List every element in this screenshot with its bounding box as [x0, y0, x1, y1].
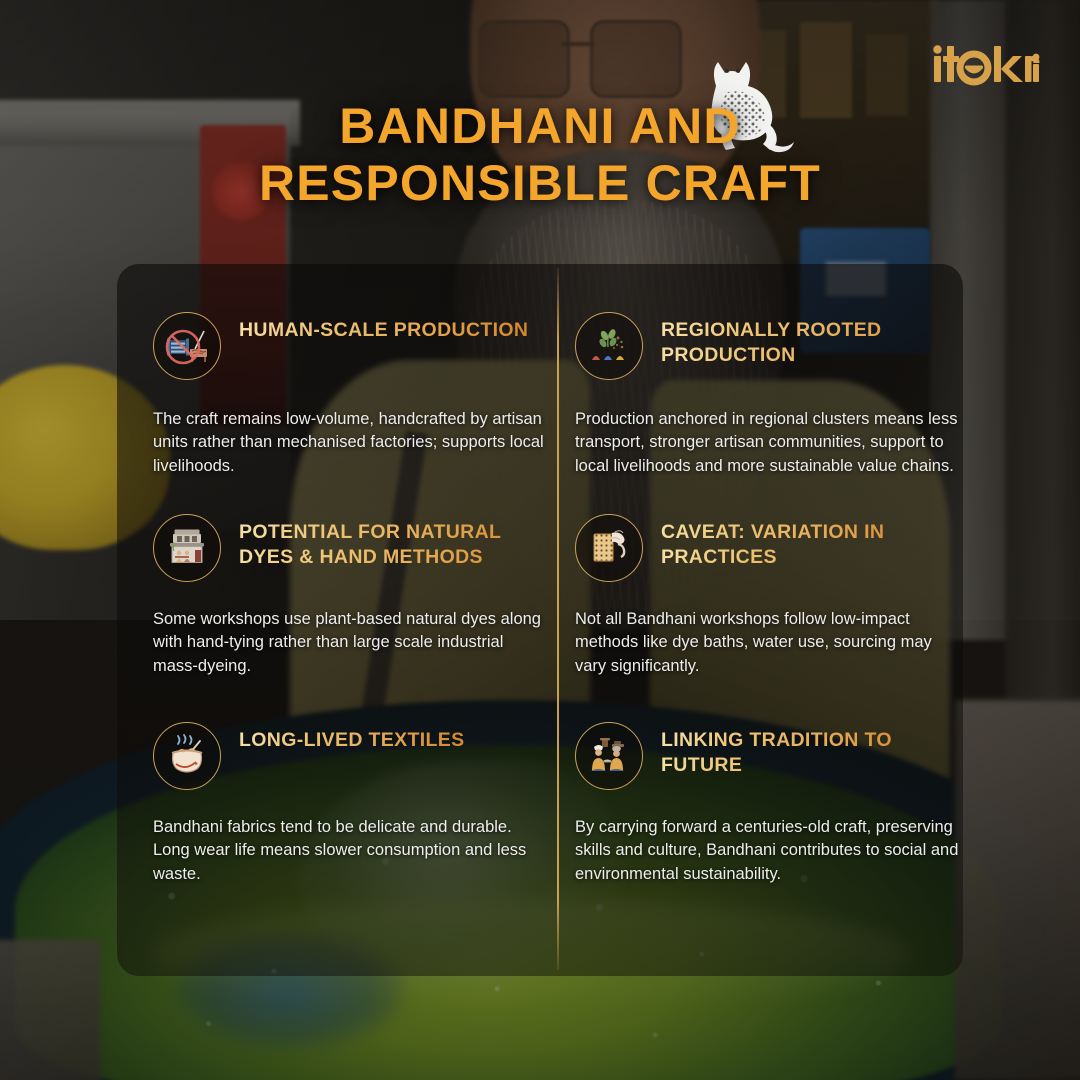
infographic-canvas: BANDHANI AND RESPONSIBLE CRAFT [0, 0, 1080, 1080]
card-long-lived-textiles: LONG-LIVED TEXTILES Bandhani fabrics ten… [153, 722, 553, 886]
card-human-scale-production: HUMAN-SCALE PRODUCTION The craft remains… [153, 312, 553, 478]
card-title: POTENTIAL FOR NATURAL DYES & HAND METHOD… [239, 520, 549, 570]
page-title: BANDHANI AND RESPONSIBLE CRAFT [0, 98, 1080, 212]
card-title: CAVEAT: VARIATION IN PRACTICES [661, 520, 931, 570]
no-factory-machine-icon [153, 312, 221, 380]
steaming-dye-pot-icon [153, 722, 221, 790]
hand-holding-fabric-swatch-icon [575, 514, 643, 582]
card-natural-dyes-hand-methods: POTENTIAL FOR NATURAL DYES & HAND METHOD… [153, 514, 553, 678]
card-header: REGIONALLY ROOTED PRODUCTION [575, 312, 975, 380]
card-body: Some workshops use plant-based natural d… [153, 608, 545, 678]
card-header: HUMAN-SCALE PRODUCTION [153, 312, 553, 380]
card-caveat-variation-in-practices: CAVEAT: VARIATION IN PRACTICES Not all B… [575, 514, 975, 678]
card-body: Production anchored in regional clusters… [575, 408, 967, 478]
card-title: REGIONALLY ROOTED PRODUCTION [661, 318, 971, 368]
card-regionally-rooted-production: REGIONALLY ROOTED PRODUCTION Production … [575, 312, 975, 478]
card-body: The craft remains low-volume, handcrafte… [153, 408, 545, 478]
title-line-2: RESPONSIBLE CRAFT [0, 155, 1080, 212]
cards-grid: HUMAN-SCALE PRODUCTION The craft remains… [117, 264, 963, 976]
card-body: Not all Bandhani workshops follow low-im… [575, 608, 967, 678]
card-title: LINKING TRADITION TO FUTURE [661, 728, 931, 778]
workshop-building-icon [153, 514, 221, 582]
card-title: HUMAN-SCALE PRODUCTION [239, 318, 528, 343]
card-header: CAVEAT: VARIATION IN PRACTICES [575, 514, 975, 582]
title-line-1: BANDHANI AND [0, 98, 1080, 155]
card-linking-tradition-to-future: LINKING TRADITION TO FUTURE By carrying … [575, 722, 975, 886]
seedling-dye-powders-icon [575, 312, 643, 380]
card-header: LONG-LIVED TEXTILES [153, 722, 553, 790]
two-artisans-working-icon [575, 722, 643, 790]
card-header: LINKING TRADITION TO FUTURE [575, 722, 975, 790]
card-body: Bandhani fabrics tend to be delicate and… [153, 816, 545, 886]
card-header: POTENTIAL FOR NATURAL DYES & HAND METHOD… [153, 514, 553, 582]
brand-logo[interactable] [932, 42, 1040, 88]
card-body: By carrying forward a centuries-old craf… [575, 816, 967, 886]
card-title: LONG-LIVED TEXTILES [239, 728, 465, 753]
